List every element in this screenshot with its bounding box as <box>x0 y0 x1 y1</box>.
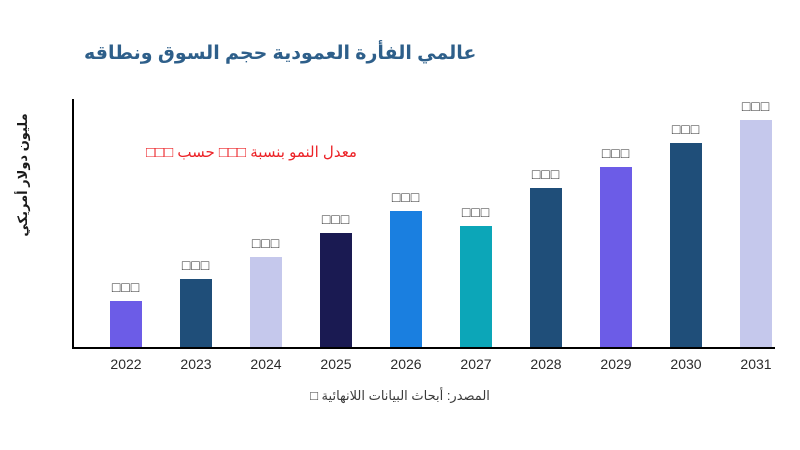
x-tick-2024: 2024 <box>250 356 281 372</box>
y-axis-line <box>72 99 74 349</box>
bar-value-label: □□□ <box>322 211 350 227</box>
bar-value-label: □□□ <box>182 257 210 273</box>
x-tick-2023: 2023 <box>180 356 211 372</box>
bar-value-label: □□□ <box>532 166 560 182</box>
growth-rate-annotation: معدل النمو بنسبة □□□ حسب □□□ <box>146 143 357 161</box>
bar-value-label: □□□ <box>742 98 770 114</box>
x-tick-2025: 2025 <box>320 356 351 372</box>
bar-2027[interactable]: □□□ <box>460 226 492 347</box>
bar-2024[interactable]: □□□ <box>250 257 282 347</box>
x-tick-2028: 2028 <box>530 356 561 372</box>
bar-2028[interactable]: □□□ <box>530 188 562 347</box>
plot-area: □□□□□□□□□□□□□□□□□□□□□□□□□□□□□□ <box>72 99 777 349</box>
bar-2025[interactable]: □□□ <box>320 233 352 347</box>
bar-2023[interactable]: □□□ <box>180 279 212 347</box>
x-tick-2026: 2026 <box>390 356 421 372</box>
bar-2026[interactable]: □□□ <box>390 211 422 347</box>
bar-value-label: □□□ <box>462 204 490 220</box>
source-note: المصدر: أبحاث البيانات اللانهائية □ <box>0 388 800 404</box>
x-tick-2029: 2029 <box>600 356 631 372</box>
bar-value-label: □□□ <box>602 145 630 161</box>
bar-value-label: □□□ <box>252 235 280 251</box>
bar-2030[interactable]: □□□ <box>670 143 702 347</box>
x-tick-2031: 2031 <box>740 356 771 372</box>
bar-value-label: □□□ <box>672 121 700 137</box>
bar-value-label: □□□ <box>112 279 140 295</box>
x-tick-2022: 2022 <box>110 356 141 372</box>
bar-2029[interactable]: □□□ <box>600 167 632 347</box>
bar-value-label: □□□ <box>392 189 420 205</box>
bar-2022[interactable]: □□□ <box>110 301 142 347</box>
x-tick-2027: 2027 <box>460 356 491 372</box>
x-axis-line <box>72 347 775 349</box>
y-axis-label: مليون دولار أمريكي <box>15 113 31 236</box>
bar-2031[interactable]: □□□ <box>740 120 772 347</box>
x-tick-2030: 2030 <box>670 356 701 372</box>
chart-container: عالمي الفأرة العمودية حجم السوق ونطاقه م… <box>0 0 800 450</box>
chart-title: عالمي الفأرة العمودية حجم السوق ونطاقه <box>84 42 476 65</box>
y-axis-label-container: مليون دولار أمريكي <box>0 60 46 290</box>
